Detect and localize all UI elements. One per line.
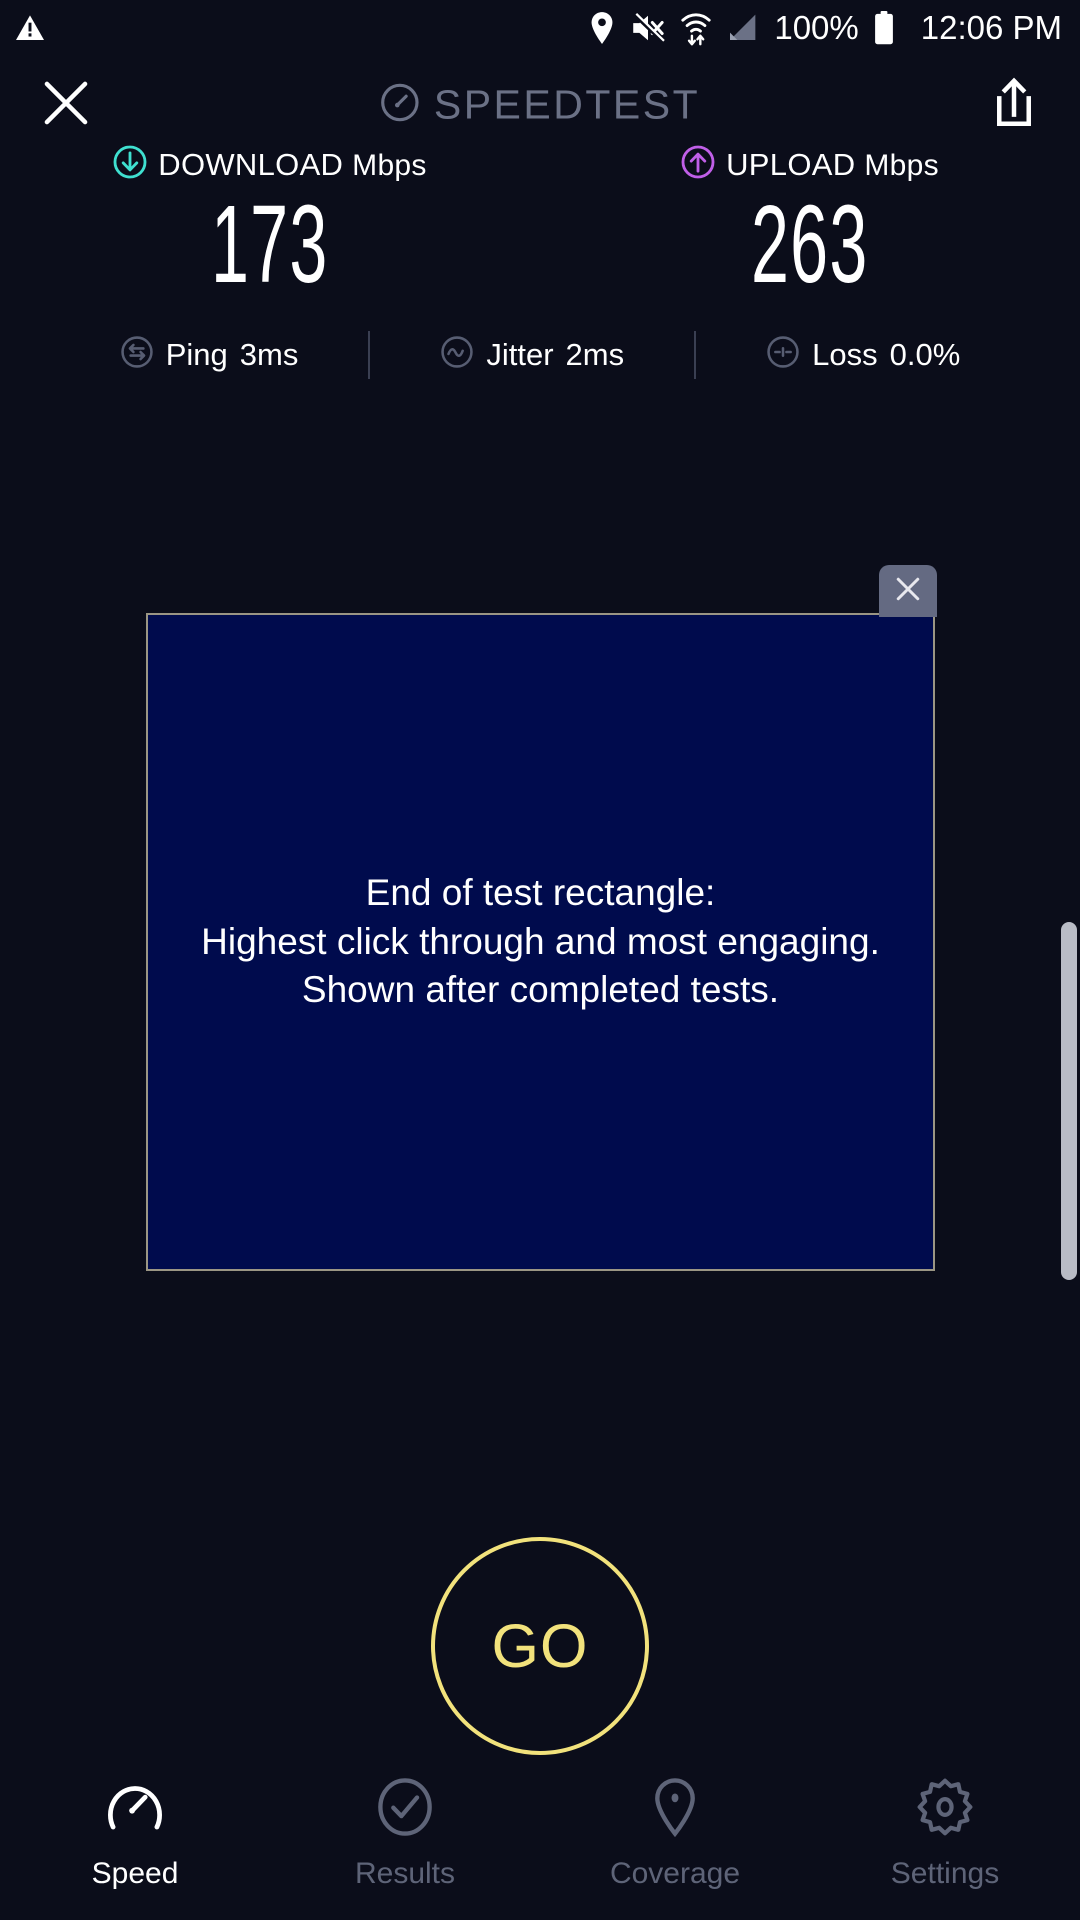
status-bar: 100% 12:06 PM [0,0,1080,56]
close-button[interactable] [36,75,96,135]
cell-signal-icon [726,13,758,43]
map-pin-icon [644,1776,706,1843]
speedometer-icon [380,83,420,128]
upload-label: UPLOAD Mbps [726,147,939,183]
wifi-transfer-icon [680,10,712,46]
jitter-metric: Jitter 2ms [428,335,636,374]
speedtest-app-screen: 100% 12:06 PM [0,0,1080,1920]
jitter-value: 2ms [566,337,625,373]
nav-item-coverage[interactable]: Coverage [540,1776,810,1891]
nav-item-settings[interactable]: Settings [810,1776,1080,1891]
download-arrow-icon [113,145,147,184]
metric-divider-2 [694,331,696,379]
download-label-text: DOWNLOAD [158,147,343,182]
nav-label-coverage: Coverage [610,1857,740,1891]
upload-metric: UPLOAD Mbps 263 [540,145,1080,305]
download-upload-row: DOWNLOAD Mbps 173 UPLOAD [0,145,1080,305]
nav-label-results: Results [355,1857,455,1891]
ad-close-icon [893,574,923,609]
status-bar-right: 100% 12:06 PM [588,9,1062,47]
advertisement-banner[interactable]: End of test rectangle: Highest click thr… [146,613,935,1271]
upload-value: 263 [751,186,869,305]
ping-metric: Ping 3ms [108,335,311,374]
nav-label-speed: Speed [92,1857,179,1891]
ad-line-3: Shown after completed tests. [201,966,880,1015]
results-panel: DOWNLOAD Mbps 173 UPLOAD [0,145,1080,379]
ping-jitter-loss-row: Ping 3ms Jitter 2ms [0,331,1080,379]
upload-header: UPLOAD Mbps [681,145,939,184]
loss-value: 0.0% [890,337,961,373]
location-pin-icon [588,11,616,45]
loss-metric: Loss 0.0% [754,335,972,374]
volume-mute-icon [630,12,666,44]
status-bar-left [14,12,46,44]
download-unit: Mbps [352,149,427,182]
loss-label: Loss [812,337,877,373]
upload-unit: Mbps [864,149,939,182]
nav-item-speed[interactable]: Speed [0,1776,270,1891]
loss-icon [766,335,800,374]
share-button[interactable] [984,75,1044,135]
brand-title-group: SPEEDTEST [380,82,700,129]
app-header: SPEEDTEST [0,62,1080,148]
upload-label-text: UPLOAD [726,147,855,182]
go-button[interactable]: GO [431,1537,649,1755]
nav-item-results[interactable]: Results [270,1776,540,1891]
close-icon [40,77,92,134]
clock-label: 12:06 PM [921,9,1062,47]
ping-icon [120,335,154,374]
ad-line-1: End of test rectangle: [201,869,880,918]
metric-divider-1 [368,331,370,379]
download-header: DOWNLOAD Mbps [113,145,426,184]
gear-icon [914,1776,976,1843]
battery-full-icon [873,11,895,45]
ad-line-2: Highest click through and most engaging. [201,918,880,967]
go-button-label: GO [492,1611,589,1681]
ad-close-button[interactable] [879,565,937,617]
bottom-navigation: Speed Results Coverage [0,1762,1080,1920]
share-icon [990,77,1038,134]
jitter-label: Jitter [486,337,553,373]
download-value: 173 [211,186,329,305]
page-title: SPEEDTEST [434,82,700,129]
download-metric: DOWNLOAD Mbps 173 [0,145,540,305]
ping-value: 3ms [240,337,299,373]
jitter-icon [440,335,474,374]
speedometer-icon [104,1776,166,1843]
ad-text: End of test rectangle: Highest click thr… [191,869,890,1015]
upload-arrow-icon [681,145,715,184]
warning-triangle-icon [14,12,46,44]
nav-label-settings: Settings [891,1857,999,1891]
download-label: DOWNLOAD Mbps [158,147,426,183]
check-circle-icon [374,1776,436,1843]
battery-percent-label: 100% [774,9,858,47]
ping-label: Ping [166,337,228,373]
vertical-scrollbar[interactable] [1061,922,1077,1280]
